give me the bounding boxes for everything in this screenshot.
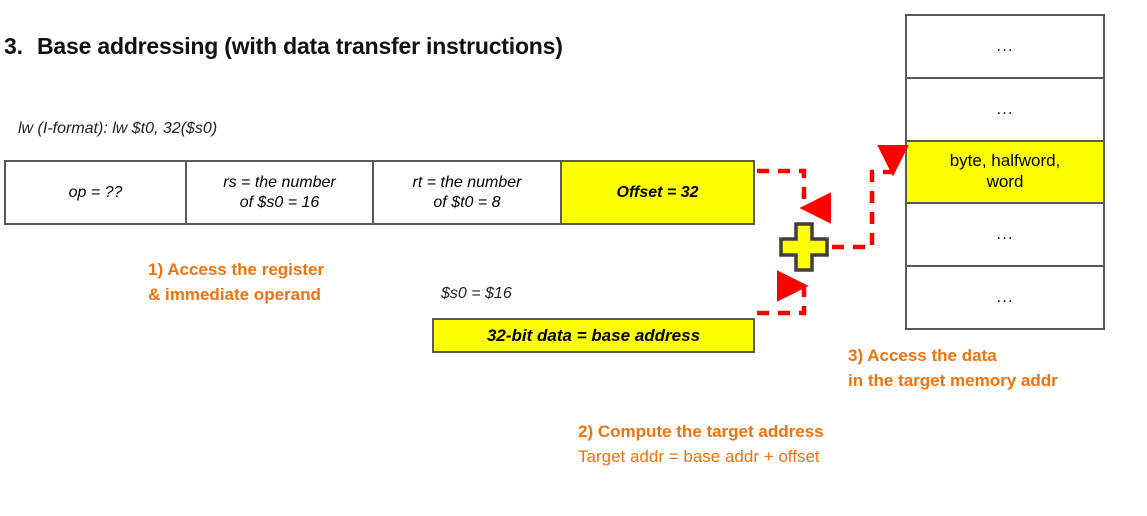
rs-field-label: rs = the number of $s0 = 16 bbox=[223, 173, 336, 213]
op-field-label: op = ?? bbox=[69, 183, 123, 203]
rt-field-line1: rt = the number bbox=[413, 174, 522, 191]
offset-field-label: Offset = 32 bbox=[617, 183, 699, 203]
rt-field-line2: of $t0 = 8 bbox=[433, 194, 500, 211]
memory-row: ... bbox=[907, 267, 1103, 328]
note-step-1: 1) Access the register & immediate opera… bbox=[148, 258, 324, 307]
adder-plus-icon bbox=[778, 221, 830, 273]
memory-row-target: byte, halfword, word bbox=[907, 142, 1103, 205]
memory-row-label: ... bbox=[996, 224, 1013, 245]
base-address-label: 32-bit data = base address bbox=[487, 326, 700, 346]
instruction-field-table: op = ?? rs = the number of $s0 = 16 rt =… bbox=[4, 160, 755, 225]
register-label: $s0 = $16 bbox=[441, 285, 512, 303]
memory-row: ... bbox=[907, 204, 1103, 267]
rs-field-line1: rs = the number bbox=[223, 174, 336, 191]
memory-column: ... ... byte, halfword, word ... ... bbox=[905, 14, 1105, 330]
memory-row-label: ... bbox=[996, 36, 1013, 57]
rt-field-label: rt = the number of $t0 = 8 bbox=[413, 173, 522, 213]
instruction-field-offset: Offset = 32 bbox=[562, 162, 753, 223]
instruction-field-rt: rt = the number of $t0 = 8 bbox=[374, 162, 562, 223]
slide-title-text: Base addressing (with data transfer inst… bbox=[37, 33, 563, 59]
rs-field-line2: of $s0 = 16 bbox=[240, 194, 320, 211]
note-step-3-line2: in the target memory addr bbox=[848, 369, 1058, 394]
memory-target-line2: word bbox=[987, 172, 1024, 191]
slide-number: 3. bbox=[4, 33, 37, 60]
memory-row: ... bbox=[907, 79, 1103, 142]
instruction-field-rs: rs = the number of $s0 = 16 bbox=[187, 162, 374, 223]
note-step-1-line1: 1) Access the register bbox=[148, 258, 324, 283]
memory-target-line1: byte, halfword, bbox=[950, 151, 1061, 170]
base-address-box: 32-bit data = base address bbox=[432, 318, 755, 353]
memory-row-label: ... bbox=[996, 99, 1013, 120]
note-step-1-line2: & immediate operand bbox=[148, 283, 324, 308]
note-step-2-line2: Target addr = base addr + offset bbox=[578, 445, 824, 470]
memory-row-label: ... bbox=[996, 287, 1013, 308]
page-title: 3.Base addressing (with data transfer in… bbox=[4, 33, 563, 60]
slide-canvas: 3.Base addressing (with data transfer in… bbox=[0, 0, 1147, 516]
note-step-3-line1: 3) Access the data bbox=[848, 344, 1058, 369]
instruction-caption: lw (I-format): lw $t0, 32($s0) bbox=[18, 120, 217, 138]
memory-target-label: byte, halfword, word bbox=[950, 151, 1061, 192]
note-step-2: 2) Compute the target address Target add… bbox=[578, 420, 824, 469]
instruction-field-op: op = ?? bbox=[6, 162, 187, 223]
memory-row: ... bbox=[907, 16, 1103, 79]
note-step-3: 3) Access the data in the target memory … bbox=[848, 344, 1058, 393]
note-step-2-line1: 2) Compute the target address bbox=[578, 420, 824, 445]
